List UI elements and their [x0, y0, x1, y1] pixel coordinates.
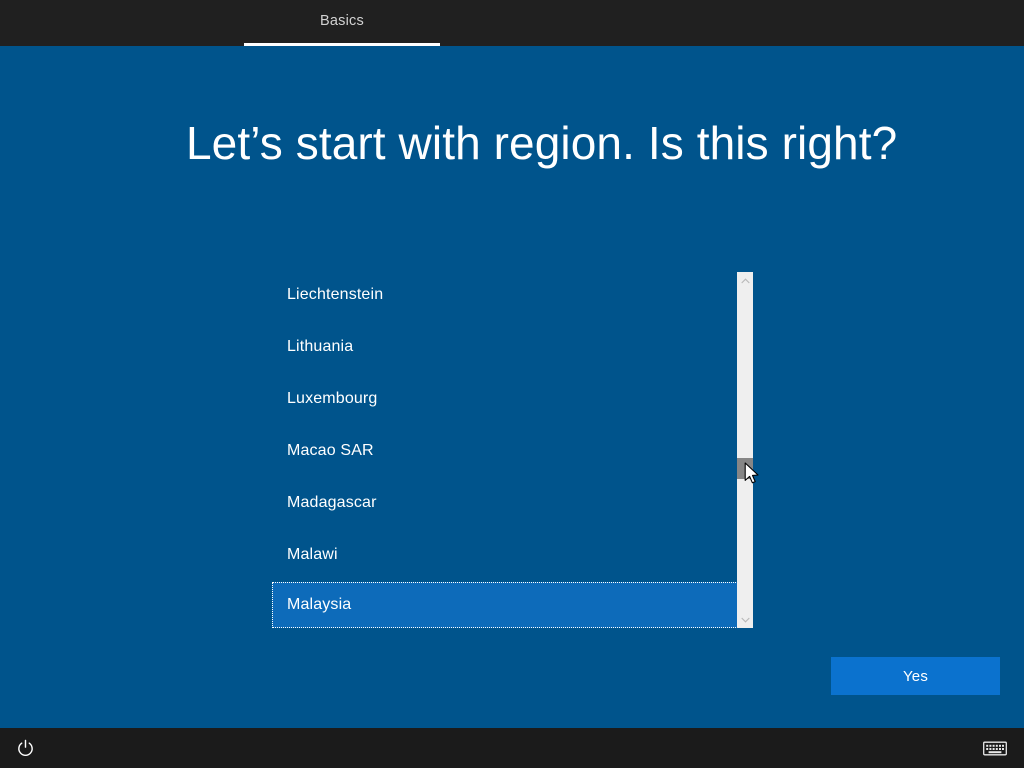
list-item-label: Lithuania [272, 338, 353, 356]
chevron-down-icon[interactable] [737, 611, 753, 628]
region-list-scrollbar[interactable] [737, 272, 753, 628]
yes-button[interactable]: Yes [831, 657, 1000, 695]
list-item-label: Madagascar [272, 494, 377, 512]
region-list-items: Liechtenstein Lithuania Luxembourg Macao… [272, 272, 738, 628]
top-navigation-inner: Basics [0, 0, 1024, 46]
list-item-selected[interactable]: Malaysia [272, 582, 738, 628]
list-item-label: Malawi [272, 546, 338, 564]
list-item[interactable]: Luxembourg [272, 376, 738, 422]
power-icon[interactable] [8, 728, 42, 768]
list-item[interactable]: Macao SAR [272, 428, 738, 474]
list-item[interactable]: Lithuania [272, 324, 738, 370]
bottom-action-bar [0, 728, 1024, 768]
chevron-up-icon[interactable] [737, 272, 753, 289]
yes-button-label: Yes [903, 668, 928, 685]
list-item-label: Macao SAR [272, 442, 374, 460]
list-item-label: Liechtenstein [272, 286, 383, 304]
list-item[interactable]: Malawi [272, 532, 738, 578]
region-listbox[interactable]: Liechtenstein Lithuania Luxembourg Macao… [272, 272, 753, 628]
page-title: Let’s start with region. Is this right? [186, 118, 897, 169]
list-item-label: Malaysia [272, 596, 351, 614]
oobe-main-stage: Let’s start with region. Is this right? … [0, 46, 1024, 728]
top-navigation-bar: Basics [0, 0, 1024, 46]
list-item[interactable]: Liechtenstein [272, 272, 738, 318]
scrollbar-thumb[interactable] [737, 458, 753, 479]
list-item-label: Luxembourg [272, 390, 377, 408]
list-item[interactable]: Madagascar [272, 480, 738, 526]
tab-basics[interactable]: Basics [244, 0, 440, 46]
keyboard-icon[interactable] [978, 728, 1012, 768]
tab-basics-label: Basics [320, 14, 364, 33]
